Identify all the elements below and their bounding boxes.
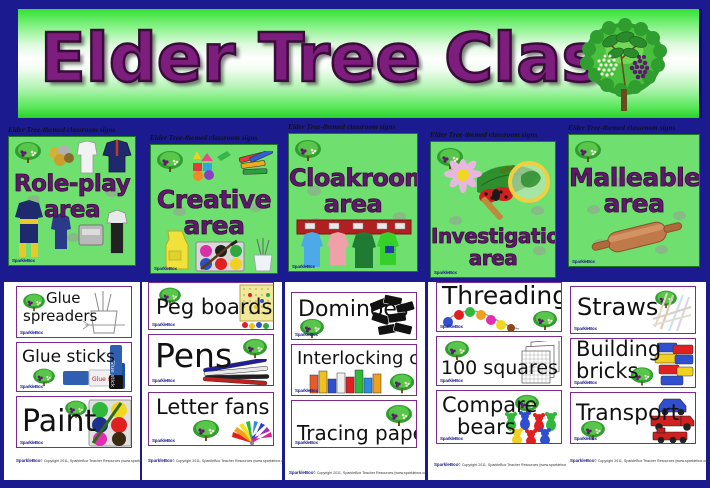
craft-pieces-icon: [187, 149, 239, 183]
sign-caption: Elder Tree-themed classroom signs: [150, 134, 278, 142]
sign-line2: area: [289, 192, 417, 216]
sparklebox-tag: SparkleBox: [574, 436, 597, 441]
sparklebox-tag: SparkleBox: [292, 264, 315, 269]
footer-copyright: SparkleBox© Copyright 2011, SparkleBox T…: [148, 458, 291, 463]
sparklebox-tag: SparkleBox: [154, 266, 177, 271]
sign-line2: area: [151, 213, 277, 238]
label-line2: bears: [457, 417, 516, 438]
tree-badge-icon: [388, 371, 416, 395]
sign-line1: Investigation: [431, 226, 555, 246]
footer-copyright: SparkleBox© Copyright 2011, SparkleBox T…: [289, 470, 432, 475]
crayons-icon: [237, 151, 278, 179]
label-line1: Peg boards: [156, 297, 272, 318]
sign-card-cloakroom[interactable]: Elder Tree-themed classroom signs: [288, 123, 418, 272]
label-line1: Building: [576, 339, 661, 360]
label-card-straws[interactable]: Straws SparkleBox: [570, 286, 696, 334]
label-panel-1: Glue spreaders SparkleBox Glue stick: [4, 282, 140, 480]
letter-fan-icon: [231, 415, 273, 446]
sign-image: Creative area SparkleBox: [150, 144, 278, 274]
label-line1: Glue sticks: [22, 349, 115, 366]
sparklebox-brand: SparkleBox: [434, 462, 458, 467]
interlocking-cubes-icon: [308, 369, 386, 396]
tree-badge-icon: [241, 337, 269, 359]
tree-badge-icon: [531, 309, 559, 331]
brush-pot-icon: [249, 237, 277, 273]
label-card-compare-bears[interactable]: Compare bears SparkleBox: [436, 390, 562, 444]
label-line2: spreaders: [23, 309, 97, 324]
sparklebox-tag: SparkleBox: [440, 436, 463, 441]
tree-badge-icon: [155, 149, 185, 173]
label-line1: Threading: [442, 283, 562, 308]
sparklebox-tag: SparkleBox: [574, 380, 597, 385]
sign-card-role-play[interactable]: Elder Tree-themed classroom signs: [8, 126, 136, 266]
label-line1: Glue: [46, 291, 81, 306]
label-card-building-bricks[interactable]: Building bricks SparkleBox: [570, 338, 696, 388]
sign-caption: Elder Tree-themed classroom signs: [568, 124, 700, 132]
poster-page: Elder Tree Class: [0, 0, 710, 488]
sparklebox-brand: SparkleBox: [148, 458, 172, 463]
sign-image: Role-play area SparkleBox: [8, 136, 136, 266]
label-line1: Paint: [22, 407, 96, 437]
label-card-glue-spreaders[interactable]: Glue spreaders SparkleBox: [16, 286, 132, 338]
magnifying-glass-flower-icon: [441, 156, 555, 222]
sign-line1: Cloakroom: [289, 166, 417, 190]
label-line1: Interlocking cubes: [297, 350, 417, 368]
label-card-peg-boards[interactable]: Peg boards SparkleBox: [148, 282, 274, 330]
sparklebox-tag: SparkleBox: [20, 330, 43, 335]
sparklebox-tag: SparkleBox: [295, 388, 318, 393]
tree-badge-icon: [13, 140, 43, 164]
sign-card-creative[interactable]: Elder Tree-themed classroom signs: [150, 134, 278, 274]
label-card-dominoes[interactable]: Dominoes SparkleBox: [291, 292, 417, 340]
label-line1: Letter fans: [156, 397, 269, 418]
sign-line2: area: [9, 199, 135, 222]
sparklebox-brand: SparkleBox: [16, 458, 40, 463]
sparklebox-tag: SparkleBox: [152, 378, 175, 383]
sparklebox-tag: SparkleBox: [434, 270, 457, 275]
sparklebox-tag: SparkleBox: [572, 259, 595, 264]
sparklebox-tag: SparkleBox: [152, 322, 175, 327]
sparklebox-tag: SparkleBox: [440, 324, 463, 329]
label-line1: Straws: [577, 295, 658, 319]
page-title: Elder Tree Class: [40, 25, 641, 92]
label-card-threading[interactable]: Threading SparkleBox: [436, 282, 562, 332]
coat-pegs-icon: [295, 218, 413, 270]
footer-copyright: SparkleBox© Copyright 2011, SparkleBox T…: [570, 458, 710, 463]
tree-badge-icon: [191, 417, 221, 443]
sign-image: Cloakroom area SparkleBox: [288, 133, 418, 272]
sign-card-investigation[interactable]: Elder Tree-themed classroom signs: [430, 131, 556, 278]
sparklebox-tag: SparkleBox: [295, 440, 318, 445]
header-banner: Elder Tree Class: [18, 9, 702, 118]
rolling-pin-icon: [587, 217, 687, 257]
sign-image: Malleable area SparkleBox: [568, 134, 700, 267]
label-card-tracing-paper[interactable]: Tracing paper SparkleBox: [291, 400, 417, 448]
sparklebox-tag: SparkleBox: [20, 440, 43, 445]
label-panel-5: Straws SparkleBox: [566, 282, 706, 480]
sparklebox-tag: SparkleBox: [574, 326, 597, 331]
label-card-pens[interactable]: Pens SparkleBox: [148, 334, 274, 386]
label-card-paint[interactable]: Paint SparkleBox: [16, 396, 132, 448]
label-card-100-squares[interactable]: 100 squares SparkleBox: [436, 336, 562, 386]
tree-badge-icon: [293, 138, 323, 162]
label-card-transport[interactable]: Transport SparkleBox: [570, 392, 696, 444]
label-line1: Dominoes: [298, 299, 408, 321]
label-line2: bricks: [576, 361, 638, 382]
label-card-interlocking-cubes[interactable]: Interlocking cubes SparkleBox: [291, 344, 417, 396]
label-panel-4: Threading SparkleBox 1: [428, 282, 568, 480]
sparklebox-tag: SparkleBox: [12, 258, 35, 263]
label-card-glue-sticks[interactable]: Glue stick Glue stick Glue sticks Sparkl…: [16, 342, 132, 392]
sign-line2: area: [431, 248, 555, 268]
label-panel-3: Dominoes SparkleBox: [285, 282, 425, 480]
sign-caption: Elder Tree-themed classroom signs: [8, 126, 136, 134]
label-line1: Pens: [155, 339, 232, 372]
label-line1: Compare: [442, 395, 537, 416]
elder-tree-icon: [559, 15, 689, 115]
sign-line1: Malleable: [569, 165, 699, 190]
label-line1: 100 squares: [441, 359, 558, 378]
sparklebox-tag: SparkleBox: [440, 378, 463, 383]
sparklebox-tag: SparkleBox: [20, 384, 43, 389]
sign-line1: Creative: [151, 187, 277, 212]
tree-badge-icon: [573, 139, 603, 163]
label-card-letter-fans[interactable]: Letter fans SparkleBox: [148, 392, 274, 446]
sign-card-malleable[interactable]: Elder Tree-themed classroom signs: [568, 124, 700, 267]
sign-line2: area: [569, 191, 699, 216]
sign-caption: Elder Tree-themed classroom signs: [288, 123, 418, 131]
sparklebox-tag: SparkleBox: [152, 438, 175, 443]
footer-copyright: SparkleBox© Copyright 2011, SparkleBox T…: [434, 462, 577, 467]
footer-copyright: SparkleBox© Copyright 2011, SparkleBox T…: [16, 458, 159, 463]
sign-image: Investigation area SparkleBox: [430, 141, 556, 278]
sparklebox-tag: SparkleBox: [295, 332, 318, 337]
paint-palette-icon: [195, 239, 245, 273]
sparklebox-brand: SparkleBox: [289, 470, 313, 475]
sign-line1: Role-play: [9, 173, 135, 196]
sign-caption: Elder Tree-themed classroom signs: [430, 131, 556, 139]
sparklebox-brand: SparkleBox: [570, 458, 594, 463]
label-line1: Transport: [576, 403, 679, 425]
label-panel-2: Peg boards SparkleBox Pens SparkleBox: [142, 282, 282, 480]
